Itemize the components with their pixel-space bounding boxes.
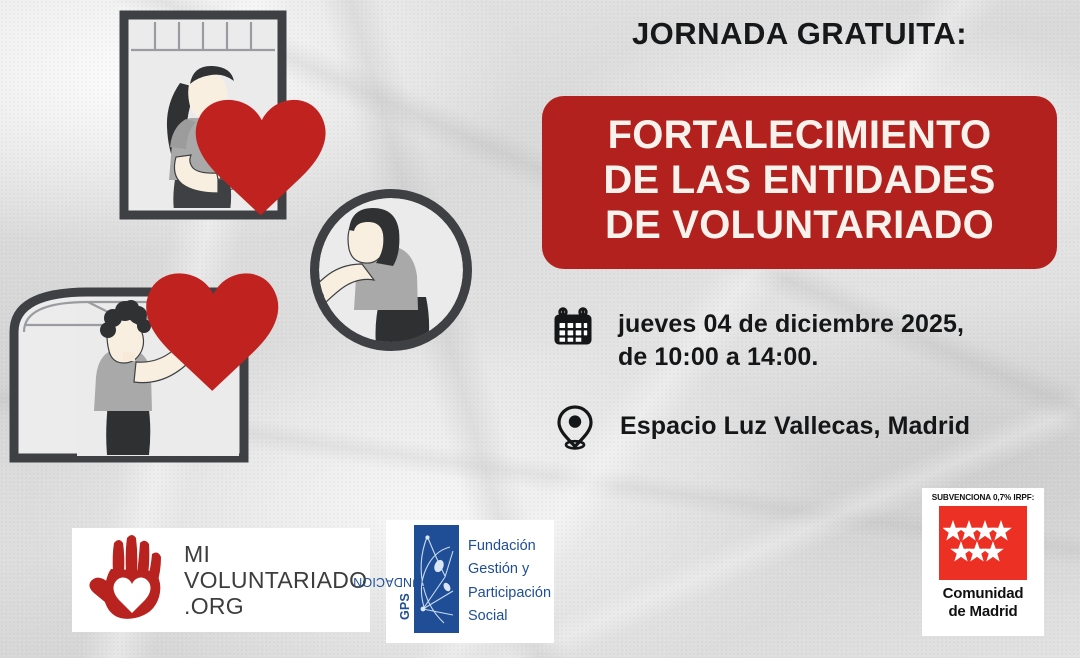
gps-text: Fundación Gestión y Participación Social [466, 535, 551, 629]
logo-mivoluntariado[interactable]: MI VOLUNTARIADO .ORG [72, 528, 370, 632]
gps-vertical-label: FUNDACIONGPS [390, 526, 407, 637]
illustration-volunteers-sharing-hearts [0, 0, 540, 490]
seven-stars-icon [943, 517, 1023, 568]
logo-comunidad-de-madrid[interactable]: SUBVENCIONA 0,7% IRPF: Comunidad de Madr… [922, 488, 1044, 636]
madrid-name-text: Comunidad de Madrid [928, 585, 1038, 620]
circle-frame [297, 194, 467, 346]
title-banner: FORTALECIMIENTO DE LAS ENTIDADES DE VOLU… [542, 96, 1057, 269]
gps-vertical-bold: GPS [399, 593, 413, 620]
madrid-flag [939, 506, 1027, 580]
poster: JORNADA GRATUITA: FORTALECIMIENTO DE LAS… [0, 0, 1080, 658]
title-line-1: FORTALECIMIENTO [558, 113, 1041, 158]
place-row: Espacio Luz Vallecas, Madrid [552, 404, 970, 450]
logo-fundacion-gps[interactable]: FUNDACIONGPS [386, 520, 554, 643]
subvention-text: SUBVENCIONA 0,7% IRPF: [928, 493, 1038, 503]
title-line-3: DE VOLUNTARIADO [558, 203, 1041, 248]
calendar-icon [550, 306, 596, 348]
place-text: Espacio Luz Vallecas, Madrid [620, 410, 970, 443]
kicker-text: JORNADA GRATUITA: [542, 16, 1057, 52]
map-pin-icon [552, 404, 598, 450]
hand-heart-icon [88, 535, 170, 626]
mivoluntariado-text: MI VOLUNTARIADO .ORG [184, 541, 367, 619]
date-text: jueves 04 de diciembre 2025, de 10:00 a … [618, 306, 964, 375]
title-line-2: DE LAS ENTIDADES [558, 158, 1041, 203]
date-row: jueves 04 de diciembre 2025, de 10:00 a … [550, 306, 964, 375]
gps-vertical-prefix: FUNDACION [353, 575, 429, 589]
